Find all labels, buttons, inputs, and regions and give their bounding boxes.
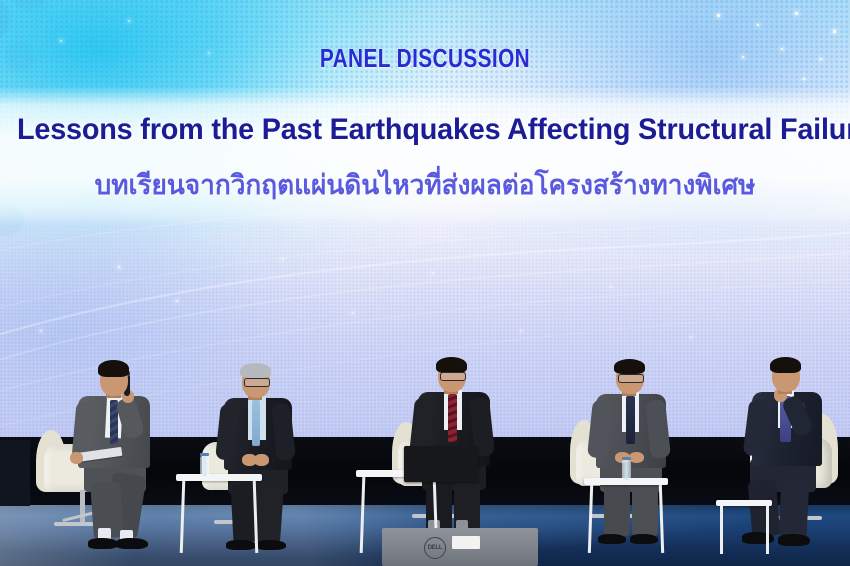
dell-monitor: DELL [382,528,538,566]
panel-kicker: PANEL DISCUSSION [85,43,765,74]
water-bottle-3 [622,460,631,480]
side-table-4 [716,500,772,556]
water-bottle-1 [200,456,209,476]
panelist-1 [62,362,180,560]
panel-subtitle-thai: บทเรียนจากวิกฤตแผ่นดินไหวที่ส่งผลต่อโครง… [13,163,838,206]
dell-logo-icon: DELL [424,537,446,559]
monitor-label [452,536,480,549]
glasses-4 [618,374,644,383]
glasses-2 [244,378,270,387]
laptop[interactable] [404,446,478,484]
side-table-3 [584,478,668,556]
glasses-3 [440,372,466,381]
side-table-1 [176,474,262,556]
stage-riser-left [0,440,30,506]
panel-main-title: Lessons from the Past Earthquakes Affect… [17,113,833,147]
conference-panel-photo: PANEL DISCUSSION Lessons from the Past E… [0,0,850,566]
